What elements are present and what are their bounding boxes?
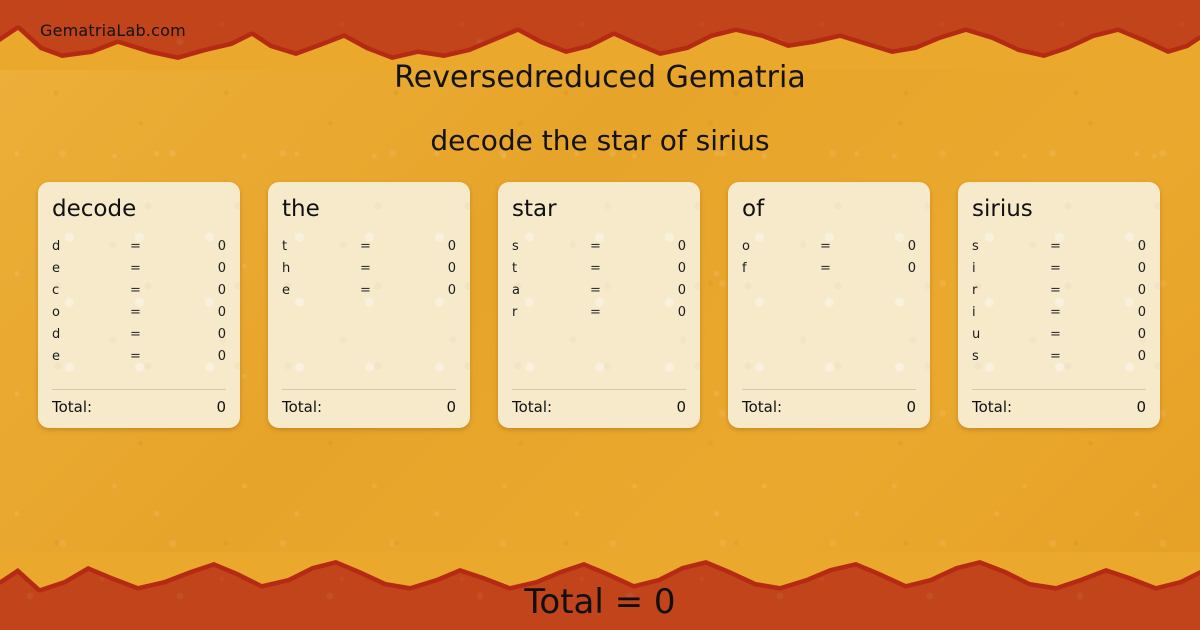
letter-label: a bbox=[512, 283, 590, 298]
letter-label: i bbox=[972, 305, 1050, 320]
letter-row: d=0 bbox=[52, 327, 226, 349]
letter-label: r bbox=[512, 305, 590, 320]
card-word: decode bbox=[52, 198, 226, 221]
equals-sign: = bbox=[130, 327, 176, 342]
letter-row: d=0 bbox=[52, 239, 226, 261]
letter-row: f=0 bbox=[742, 261, 916, 283]
letter-label: o bbox=[742, 239, 820, 254]
equals-sign: = bbox=[590, 305, 636, 320]
equals-sign: = bbox=[130, 283, 176, 298]
card-total-label: Total: bbox=[282, 398, 322, 416]
card-divider bbox=[742, 389, 916, 390]
letter-value: 0 bbox=[176, 283, 226, 298]
equals-sign: = bbox=[1050, 283, 1096, 298]
word-cards-container: decoded=0e=0c=0o=0d=0e=0Total:0thet=0h=0… bbox=[38, 182, 1162, 428]
equals-sign: = bbox=[820, 261, 866, 276]
letter-row: r=0 bbox=[972, 283, 1146, 305]
letter-value: 0 bbox=[636, 261, 686, 276]
letter-label: c bbox=[52, 283, 130, 298]
letter-value: 0 bbox=[866, 239, 916, 254]
letter-row: a=0 bbox=[512, 283, 686, 305]
equals-sign: = bbox=[360, 283, 406, 298]
letter-value: 0 bbox=[176, 239, 226, 254]
letter-label: r bbox=[972, 283, 1050, 298]
letter-row: e=0 bbox=[52, 261, 226, 283]
letter-label: d bbox=[52, 327, 130, 342]
card-total-row: Total:0 bbox=[742, 398, 916, 416]
equals-sign: = bbox=[360, 261, 406, 276]
letter-value: 0 bbox=[636, 283, 686, 298]
equals-sign: = bbox=[360, 239, 406, 254]
letter-label: d bbox=[52, 239, 130, 254]
word-card: stars=0t=0a=0r=0Total:0 bbox=[498, 182, 700, 428]
card-total-label: Total: bbox=[972, 398, 1012, 416]
letter-value: 0 bbox=[1096, 283, 1146, 298]
letter-row: c=0 bbox=[52, 283, 226, 305]
card-total-value: 0 bbox=[552, 398, 686, 416]
letter-value: 0 bbox=[176, 305, 226, 320]
letter-rows: s=0i=0r=0i=0u=0s=0 bbox=[972, 239, 1146, 389]
letter-label: o bbox=[52, 305, 130, 320]
card-total-value: 0 bbox=[782, 398, 916, 416]
letter-label: t bbox=[512, 261, 590, 276]
letter-row: t=0 bbox=[512, 261, 686, 283]
card-word: of bbox=[742, 198, 916, 221]
letter-row: t=0 bbox=[282, 239, 456, 261]
word-card: siriuss=0i=0r=0i=0u=0s=0Total:0 bbox=[958, 182, 1160, 428]
letter-rows: d=0e=0c=0o=0d=0e=0 bbox=[52, 239, 226, 389]
letter-row: u=0 bbox=[972, 327, 1146, 349]
letter-value: 0 bbox=[176, 349, 226, 364]
word-card: decoded=0e=0c=0o=0d=0e=0Total:0 bbox=[38, 182, 240, 428]
letter-row: s=0 bbox=[972, 349, 1146, 371]
equals-sign: = bbox=[130, 239, 176, 254]
equals-sign: = bbox=[1050, 305, 1096, 320]
card-total-row: Total:0 bbox=[52, 398, 226, 416]
letter-label: i bbox=[972, 261, 1050, 276]
equals-sign: = bbox=[130, 261, 176, 276]
letter-value: 0 bbox=[176, 261, 226, 276]
letter-value: 0 bbox=[406, 261, 456, 276]
card-divider bbox=[512, 389, 686, 390]
letter-label: f bbox=[742, 261, 820, 276]
card-total-value: 0 bbox=[1012, 398, 1146, 416]
equals-sign: = bbox=[590, 239, 636, 254]
equals-sign: = bbox=[590, 261, 636, 276]
letter-value: 0 bbox=[1096, 261, 1146, 276]
equals-sign: = bbox=[590, 283, 636, 298]
card-total-label: Total: bbox=[52, 398, 92, 416]
equals-sign: = bbox=[1050, 261, 1096, 276]
card-divider bbox=[282, 389, 456, 390]
letter-row: e=0 bbox=[282, 283, 456, 305]
card-total-row: Total:0 bbox=[512, 398, 686, 416]
card-total-value: 0 bbox=[92, 398, 226, 416]
letter-row: i=0 bbox=[972, 305, 1146, 327]
letter-label: t bbox=[282, 239, 360, 254]
letter-value: 0 bbox=[1096, 239, 1146, 254]
letter-row: e=0 bbox=[52, 349, 226, 371]
letter-row: h=0 bbox=[282, 261, 456, 283]
letter-value: 0 bbox=[1096, 327, 1146, 342]
letter-label: h bbox=[282, 261, 360, 276]
page-subtitle: decode the star of sirius bbox=[0, 124, 1200, 157]
card-total-value: 0 bbox=[322, 398, 456, 416]
equals-sign: = bbox=[130, 305, 176, 320]
letter-value: 0 bbox=[636, 239, 686, 254]
grand-total: Total = 0 bbox=[0, 582, 1200, 622]
letter-row: r=0 bbox=[512, 305, 686, 327]
letter-label: e bbox=[282, 283, 360, 298]
equals-sign: = bbox=[130, 349, 176, 364]
word-card: ofo=0f=0Total:0 bbox=[728, 182, 930, 428]
letter-row: i=0 bbox=[972, 261, 1146, 283]
equals-sign: = bbox=[1050, 327, 1096, 342]
letter-rows: o=0f=0 bbox=[742, 239, 916, 389]
letter-label: s bbox=[972, 349, 1050, 364]
letter-rows: s=0t=0a=0r=0 bbox=[512, 239, 686, 389]
letter-label: u bbox=[972, 327, 1050, 342]
letter-value: 0 bbox=[406, 283, 456, 298]
card-divider bbox=[972, 389, 1146, 390]
letter-value: 0 bbox=[1096, 305, 1146, 320]
letter-value: 0 bbox=[636, 305, 686, 320]
card-divider bbox=[52, 389, 226, 390]
card-total-row: Total:0 bbox=[282, 398, 456, 416]
site-logo[interactable]: GematriaLab.com bbox=[40, 21, 186, 40]
page-root: GematriaLab.com Reversedreduced Gematria… bbox=[0, 0, 1200, 630]
letter-row: o=0 bbox=[742, 239, 916, 261]
card-word: the bbox=[282, 198, 456, 221]
letter-row: s=0 bbox=[512, 239, 686, 261]
equals-sign: = bbox=[1050, 239, 1096, 254]
card-total-label: Total: bbox=[512, 398, 552, 416]
card-word: star bbox=[512, 198, 686, 221]
word-card: thet=0h=0e=0Total:0 bbox=[268, 182, 470, 428]
letter-row: o=0 bbox=[52, 305, 226, 327]
letter-row: s=0 bbox=[972, 239, 1146, 261]
card-word: sirius bbox=[972, 198, 1146, 221]
letter-rows: t=0h=0e=0 bbox=[282, 239, 456, 389]
letter-value: 0 bbox=[176, 327, 226, 342]
letter-label: s bbox=[512, 239, 590, 254]
equals-sign: = bbox=[820, 239, 866, 254]
card-total-row: Total:0 bbox=[972, 398, 1146, 416]
letter-label: e bbox=[52, 349, 130, 364]
equals-sign: = bbox=[1050, 349, 1096, 364]
letter-label: s bbox=[972, 239, 1050, 254]
letter-value: 0 bbox=[866, 261, 916, 276]
card-total-label: Total: bbox=[742, 398, 782, 416]
letter-value: 0 bbox=[406, 239, 456, 254]
letter-value: 0 bbox=[1096, 349, 1146, 364]
page-title: Reversedreduced Gematria bbox=[0, 60, 1200, 95]
letter-label: e bbox=[52, 261, 130, 276]
